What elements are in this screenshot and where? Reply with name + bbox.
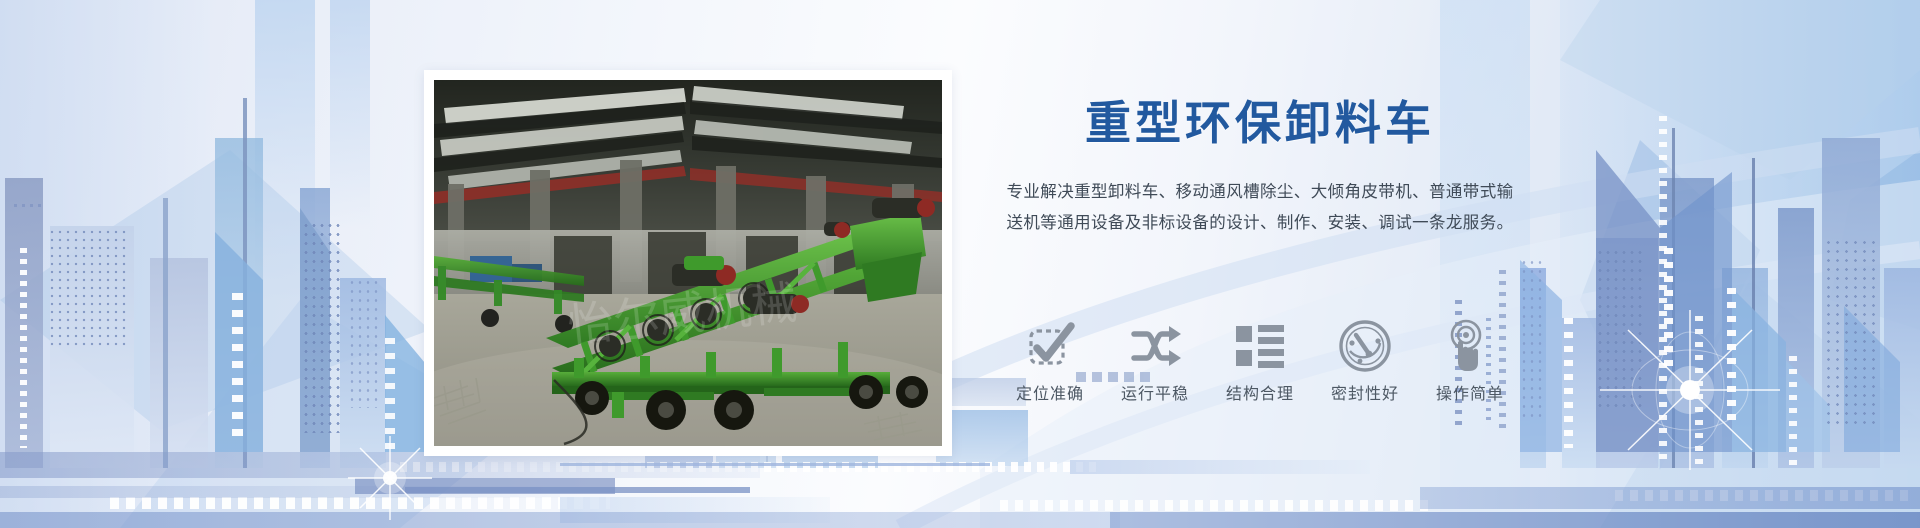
feature-label: 运行平稳 <box>1121 380 1189 404</box>
bg-window-grid <box>1824 238 1880 428</box>
page-title: 重型环保卸料车 <box>1000 96 1520 150</box>
bg-window-grid <box>1520 258 1544 418</box>
bg-window-grid <box>302 221 344 433</box>
feature-label: 操作简单 <box>1436 380 1504 404</box>
bg-streak <box>0 512 1120 528</box>
feature-item-good-sealing[interactable]: 密封性好 <box>1315 316 1415 404</box>
hero-banner: 怡尔威机械 重型环保卸料车 专业解决重型卸料车、移动通风槽除尘、大倾角皮带机、普… <box>0 0 1920 528</box>
bg-window-ladder <box>20 248 27 448</box>
product-photo: 怡尔威机械 <box>434 80 942 446</box>
bg-window-grid <box>48 228 130 348</box>
check-box-icon <box>1024 316 1076 376</box>
photo-scene: 怡尔威机械 <box>434 80 942 446</box>
layout-blocks-icon <box>1234 316 1286 376</box>
banner-text-column: 重型环保卸料车 专业解决重型卸料车、移动通风槽除尘、大倾角皮带机、普通带式输送机… <box>1000 96 1520 238</box>
bg-dot-band <box>1000 500 1430 511</box>
bg-window-ladder <box>1564 318 1573 448</box>
feature-label: 结构合理 <box>1226 380 1294 404</box>
feature-label: 定位准确 <box>1016 380 1084 404</box>
feature-item-accurate-positioning[interactable]: 定位准确 <box>1000 316 1100 404</box>
feature-item-reasonable-structure[interactable]: 结构合理 <box>1210 316 1310 404</box>
bg-streak <box>1420 487 1920 509</box>
bg-window-ladder <box>232 293 243 443</box>
bg-streak <box>405 487 750 493</box>
feature-item-simple-operation[interactable]: 操作简单 <box>1420 316 1520 404</box>
bg-streak <box>1070 460 1370 474</box>
product-photo-card: 怡尔威机械 <box>424 70 952 456</box>
feature-list: 定位准确 运行平稳 <box>1000 316 1520 404</box>
banner-subtitle: 专业解决重型卸料车、移动通风槽除尘、大倾角皮带机、普通带式输送机等通用设备及非标… <box>1000 177 1520 238</box>
bg-streak <box>1110 512 1920 528</box>
touch-hand-icon <box>1444 316 1496 376</box>
background-cityscape-art <box>0 0 1920 528</box>
bg-flare-star-right <box>1580 290 1800 490</box>
shuffle-arrows-icon <box>1129 316 1181 376</box>
bg-streak <box>560 463 990 466</box>
seal-dial-icon <box>1338 316 1392 376</box>
feature-item-stable-operation[interactable]: 运行平稳 <box>1105 316 1205 404</box>
feature-label: 密封性好 <box>1331 380 1399 404</box>
bg-window-grid <box>348 278 382 408</box>
